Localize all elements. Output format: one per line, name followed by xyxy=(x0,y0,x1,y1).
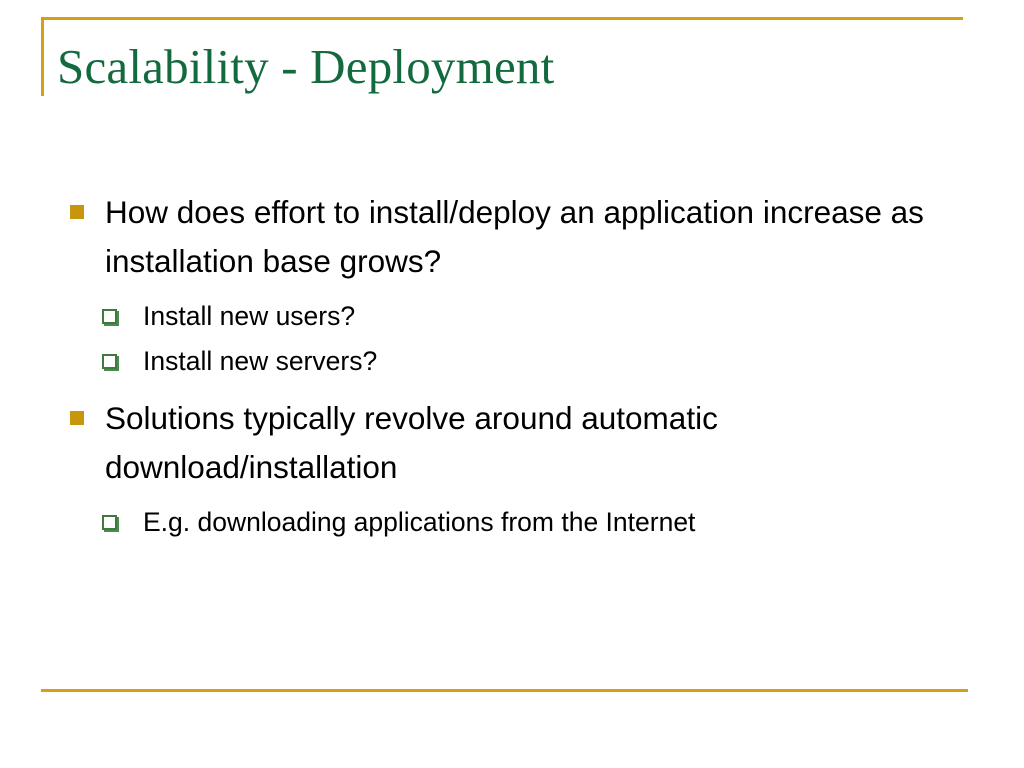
filled-square-bullet-icon xyxy=(70,411,84,425)
filled-square-bullet-icon xyxy=(70,205,84,219)
slide-body: How does effort to install/deploy an app… xyxy=(60,188,970,545)
bullet-level1: How does effort to install/deploy an app… xyxy=(60,188,970,286)
hollow-square-bullet-icon xyxy=(102,515,117,530)
presentation-slide: Scalability - Deployment How does effort… xyxy=(0,0,1024,768)
hollow-square-bullet-icon xyxy=(102,354,117,369)
bullet-text: Install new servers? xyxy=(143,346,377,376)
bullet-text: E.g. downloading applications from the I… xyxy=(143,507,695,537)
bullet-text: Solutions typically revolve around autom… xyxy=(105,400,718,485)
spacer xyxy=(60,384,970,394)
footer-rule xyxy=(41,689,968,692)
bullet-text: Install new users? xyxy=(143,301,355,331)
bullet-text: How does effort to install/deploy an app… xyxy=(105,194,924,279)
title-frame-left-rule xyxy=(41,17,44,96)
slide-title: Scalability - Deployment xyxy=(57,38,957,96)
bullet-level2: Install new servers? xyxy=(60,339,970,384)
bullet-level2: E.g. downloading applications from the I… xyxy=(60,500,970,545)
hollow-square-bullet-icon xyxy=(102,309,117,324)
bullet-level2: Install new users? xyxy=(60,294,970,339)
bullet-level1: Solutions typically revolve around autom… xyxy=(60,394,970,492)
title-frame-top-rule xyxy=(41,17,963,20)
